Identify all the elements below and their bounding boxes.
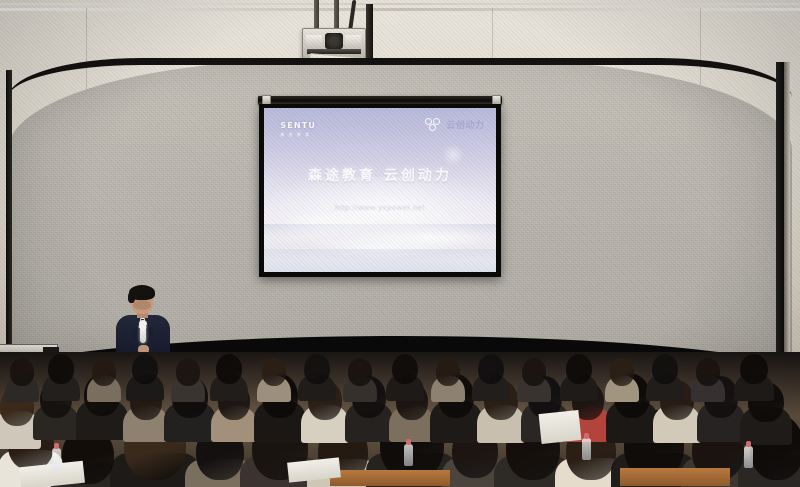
projector-mount-pole [314, 0, 319, 30]
audience-head [522, 358, 546, 386]
sentu-logo-subtitle: 森 途 教 育 [280, 132, 316, 138]
yunchuang-logo: 云创动力 [425, 118, 484, 132]
slide-glow [264, 177, 496, 259]
ceiling-seam-secondary [0, 3, 800, 5]
audience-head [10, 358, 34, 386]
sentu-logo: SENTU 森 途 教 育 [280, 121, 316, 138]
audience-head [304, 354, 330, 384]
panel-left-edge [6, 70, 12, 360]
slide-watermark [442, 144, 464, 166]
lecture-hall-photo: SENTU 森 途 教 育 云创动力 森途教育 云创动力 http://www.… [0, 0, 800, 487]
water-bottle [52, 448, 61, 470]
water-bottle [744, 446, 753, 468]
projector-vent [306, 35, 322, 46]
audience-head [48, 354, 74, 384]
ceiling-seam [0, 8, 800, 11]
audience-head [478, 354, 504, 384]
panel-top-frame [8, 58, 792, 98]
water-bottle [582, 438, 591, 460]
projector-lens-icon [325, 33, 343, 49]
audience-head [566, 354, 592, 384]
audience-head [262, 358, 286, 386]
presenter-face-shadow [133, 300, 151, 310]
panel-right-return [784, 62, 790, 352]
projector-vent [345, 35, 361, 46]
slide-url: http://www.yxpower.net [264, 203, 496, 212]
audience-head [132, 354, 158, 384]
audience-head [92, 358, 116, 386]
audience-head [696, 358, 720, 386]
water-bottle [404, 444, 413, 466]
slide-title: 森途教育 云创动力 [264, 165, 496, 185]
panel-right-edge [776, 62, 784, 362]
audience-head [216, 354, 242, 384]
presenter-hair [129, 285, 155, 300]
microphone-head-icon [139, 320, 147, 327]
audience-head [740, 354, 768, 384]
audience [0, 352, 800, 487]
projected-slide: SENTU 森 途 教 育 云创动力 森途教育 云创动力 http://www.… [264, 108, 496, 272]
sentu-logo-mark: SENTU [280, 121, 316, 130]
desk-surface [620, 468, 730, 486]
yunchuang-logo-text: 云创动力 [446, 118, 484, 131]
projector-mount-pole [334, 0, 339, 30]
audience-head [176, 358, 200, 386]
audience-head [348, 358, 372, 386]
projection-screen: SENTU 森 途 教 育 云创动力 森途教育 云创动力 http://www.… [259, 104, 501, 277]
audience-head [610, 358, 634, 386]
handout-paper [539, 410, 582, 444]
presenter [112, 283, 174, 361]
audience-head [652, 354, 678, 384]
atom-cluster-icon [425, 118, 443, 132]
desk-surface [330, 470, 450, 486]
audience-head [436, 358, 460, 386]
audience-head [392, 354, 418, 384]
